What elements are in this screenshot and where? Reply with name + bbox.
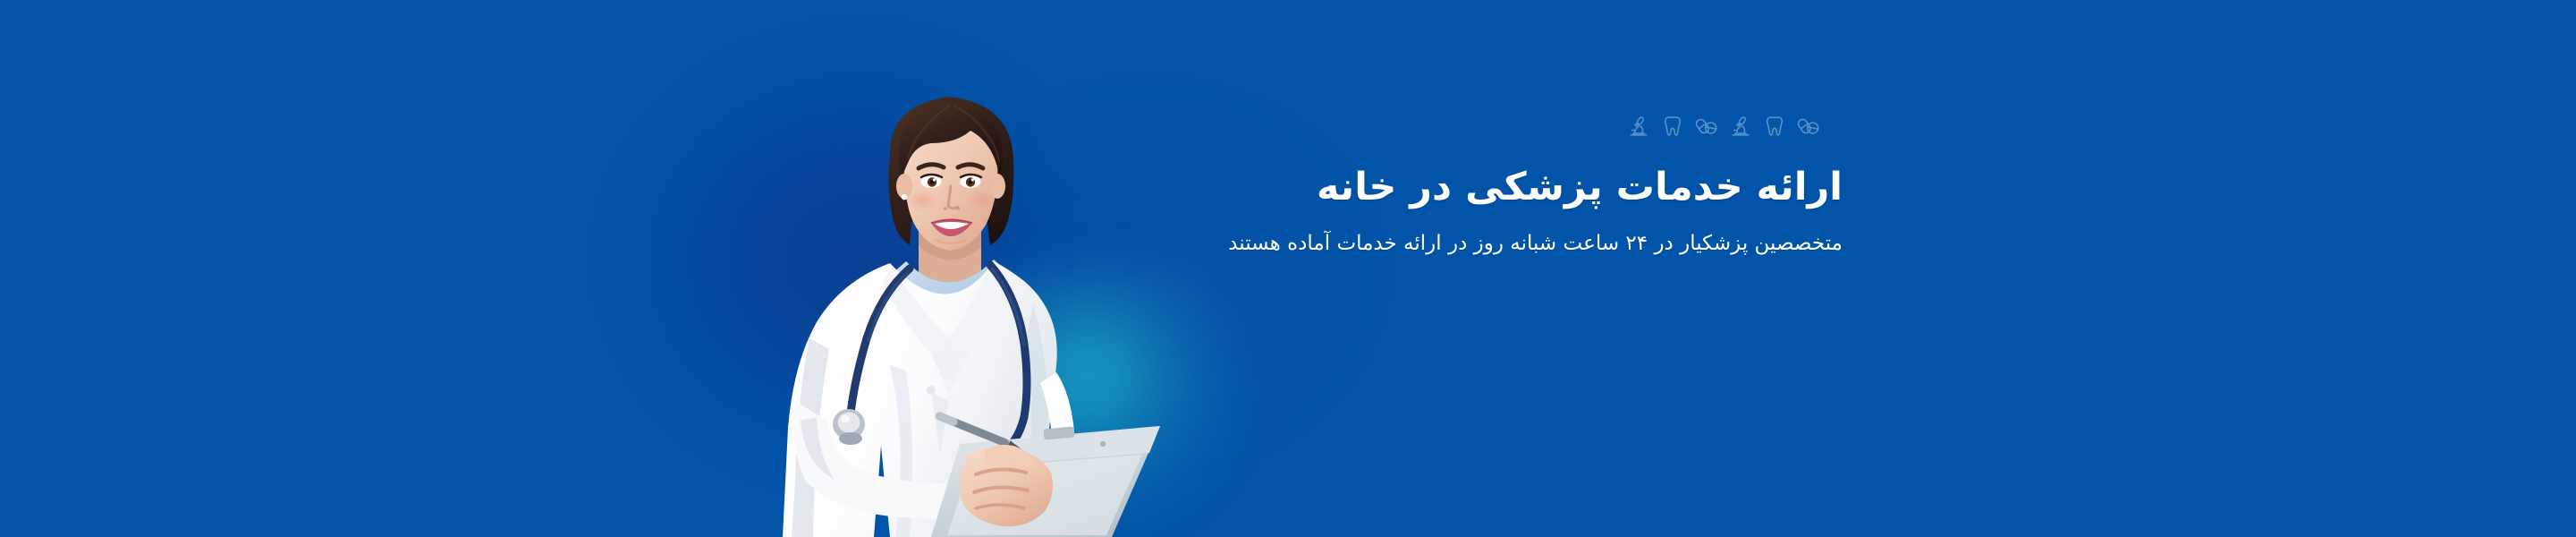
medical-icon-strip: [1627, 113, 1820, 140]
banner-background: [0, 0, 2576, 537]
tooth-icon: [1661, 113, 1684, 140]
pills-icon: [1797, 113, 1820, 140]
microscope-icon: [1729, 113, 1752, 140]
tooth-icon: [1763, 113, 1786, 140]
hero-headline: ارائه خدمات پزشکی در خانه: [733, 161, 1843, 213]
microscope-icon: [1627, 113, 1650, 140]
hero-copy: ارائه خدمات پزشکی در خانه متخصصین پزشکیا…: [733, 161, 1843, 261]
pills-icon: [1695, 113, 1718, 140]
hero-banner: ارائه خدمات پزشکی در خانه متخصصین پزشکیا…: [0, 0, 2576, 537]
hero-subtitle: متخصصین پزشکیار در ۲۴ ساعت شبانه روز در …: [1225, 226, 1843, 261]
